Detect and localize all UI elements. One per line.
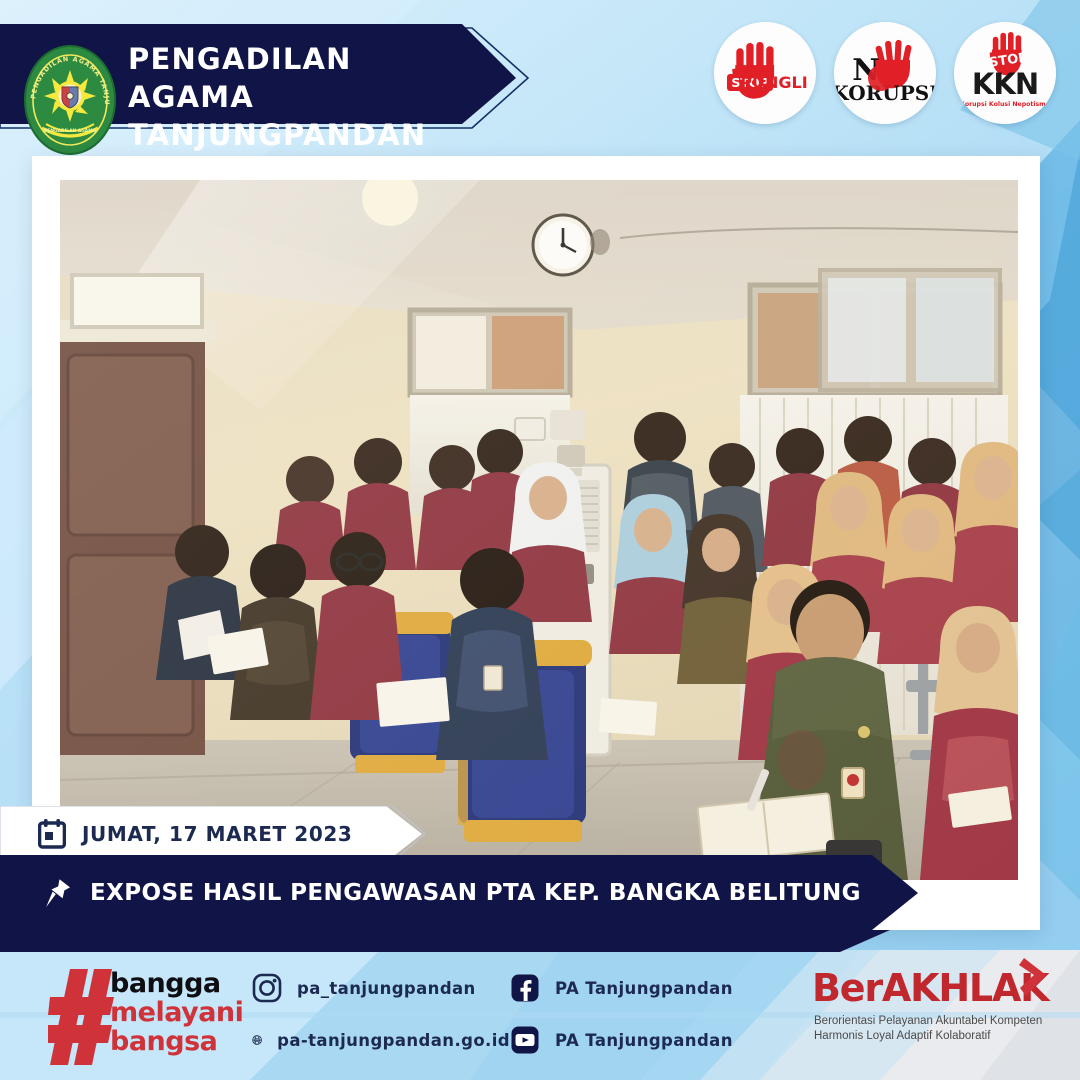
bangga-line1: bangga [110,969,243,998]
bangga-melayani-bangsa-logo: bangga melayani bangsa [48,963,238,1063]
badge-main-word: PUNGLI [740,73,807,92]
anti-corruption-badges: STOP PUNGLI N KORUPSI [714,22,1056,124]
page-title: PENGADILAN AGAMA TANJUNGPANDAN [128,40,458,154]
badge-sub-word: Korupsi Kolusi Nepotisme [960,101,1050,108]
contact-website-label: pa-tanjungpandan.go.id [277,1031,510,1050]
contact-facebook-label: PA Tanjungpandan [555,979,733,998]
berakhlak-wordmark: BerAKHLAK [812,966,1048,1010]
contact-youtube[interactable]: PA Tanjungpandan [510,1025,810,1055]
page-title-line1: PENGADILAN AGAMA [128,40,458,116]
hashtag-icon [48,969,114,1065]
title-row: EXPOSE HASIL PENGAWASAN PTA KEP. BANGKA … [42,855,861,930]
event-date: JUMAT, 17 MARET 2023 [82,822,352,846]
meeting-photo [60,180,1018,880]
pushpin-icon [42,877,72,909]
svg-text:www: www [254,1039,262,1042]
chevron-right-icon [1018,956,1052,1000]
contact-facebook[interactable]: PA Tanjungpandan [510,973,810,1003]
bangga-lines: bangga melayani bangsa [110,969,243,1056]
badge-stop-pungli: STOP PUNGLI [714,22,816,124]
globe-www-icon: www [252,1025,262,1055]
youtube-icon [510,1025,540,1055]
berakhlak-subtitle: Berorientasi Pelayanan Akuntabel Kompete… [814,1014,1054,1044]
facebook-icon [510,973,540,1003]
instagram-icon [252,973,282,1003]
contact-website[interactable]: www pa-tanjungpandan.go.id [252,1025,510,1055]
berakhlak-logo: BerAKHLAK Berorientasi Pelayanan Akuntab… [806,962,1056,1062]
contact-instagram[interactable]: pa_tanjungpandan [252,973,510,1003]
badge-no-korupsi: N KORUPSI [834,22,936,124]
date-row: JUMAT, 17 MARET 2023 [38,806,352,862]
badge-main-word: KKN [972,67,1038,101]
event-title: EXPOSE HASIL PENGAWASAN PTA KEP. BANGKA … [90,880,861,906]
calendar-icon [38,819,66,849]
title-banner: EXPOSE HASIL PENGAWASAN PTA KEP. BANGKA … [0,855,920,930]
title-banner-tail [0,930,890,952]
header-banner: PENGADILAN AGAMA TANJUNGPANDAN [0,24,540,132]
bangga-line3: bangsa [110,1027,243,1056]
svg-text:PENGADILAN AGAMA: PENGADILAN AGAMA [44,128,96,134]
contact-list: pa_tanjungpandan PA Tanjungpandan www pa… [252,962,812,1066]
page-title-line2: TANJUNGPANDAN [128,116,458,154]
contact-youtube-label: PA Tanjungpandan [555,1031,733,1050]
berakhlak-subtitle-line1: Berorientasi Pelayanan Akuntabel Kompete… [814,1014,1054,1029]
berakhlak-subtitle-line2: Harmonis Loyal Adaptif Kolaboratif [814,1029,1054,1044]
court-seal-icon: PENGADILAN AGAMA TANJUNGPANDAN [22,44,118,156]
badge-stop-kkn: STOP KKN Korupsi Kolusi Nepotisme [954,22,1056,124]
date-banner: JUMAT, 17 MARET 2023 [0,806,425,862]
contact-instagram-label: pa_tanjungpandan [297,979,476,998]
bangga-line2: melayani [110,998,243,1027]
